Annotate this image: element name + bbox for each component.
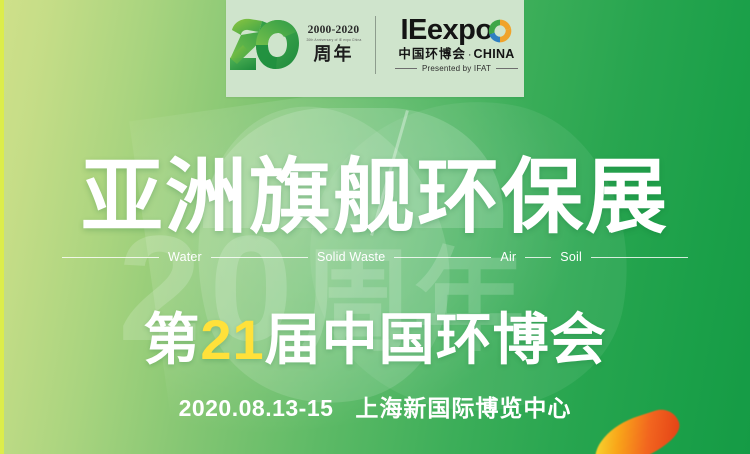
topic-tag-strip: Water Solid Waste Air Soil xyxy=(62,250,688,264)
ieexpo-ifat-row: Presented by IFAT xyxy=(389,64,525,73)
ieexpo-wordmark-row: IEexpo xyxy=(400,16,512,45)
tag-rule xyxy=(62,257,159,258)
ieexpo-wordmark: IEexpo xyxy=(400,16,492,45)
tag-rule xyxy=(525,257,551,258)
anniversary-text-block: 2000-2020 20th Anniversary of IE expo Ch… xyxy=(304,24,364,65)
subtitle-edition-number: 21 xyxy=(200,308,264,371)
ifat-rule-right xyxy=(496,68,518,69)
ieexpo-cn-name: 中国环博会 xyxy=(398,48,466,61)
event-date: 2020.08.13-15 xyxy=(179,395,334,421)
tag-solid-waste: Solid Waste xyxy=(317,250,385,264)
subtitle-edition: 第21届中国环博会 xyxy=(0,307,750,373)
ieexpo-presented-by: Presented by IFAT xyxy=(422,64,491,73)
tag-rule xyxy=(394,257,491,258)
subtitle-prefix: 第 xyxy=(143,308,200,371)
logo-panel: 2000-2020 20th Anniversary of IE expo Ch… xyxy=(226,0,524,97)
anniversary-cn: 周年 xyxy=(314,44,354,65)
ieexpo-ring-icon xyxy=(487,18,513,44)
anniversary-sub-en: 20th Anniversary of IE expo China xyxy=(306,37,361,43)
event-venue: 上海新国际博览中心 xyxy=(355,395,571,421)
subtitle-suffix: 届中国环博会 xyxy=(265,308,607,371)
tag-rule xyxy=(591,257,688,258)
event-details: 2020.08.13-15上海新国际博览中心 xyxy=(0,393,750,423)
logo-divider xyxy=(375,16,376,74)
tag-air: Air xyxy=(500,250,516,264)
tag-water: Water xyxy=(168,250,202,264)
ieexpo-country: CHINA xyxy=(474,48,515,61)
ieexpo-separator: · xyxy=(468,50,472,61)
tag-soil: Soil xyxy=(560,250,582,264)
logo-panel-inner: 2000-2020 20th Anniversary of IE expo Ch… xyxy=(226,16,525,74)
tag-rule xyxy=(211,257,308,258)
poster-canvas: 20周年 xyxy=(0,0,750,454)
ifat-rule-left xyxy=(395,68,417,69)
ieexpo-cn-row: 中国环博会 · CHINA xyxy=(398,48,514,61)
headline-title: 亚洲旗舰环保展 xyxy=(0,152,750,244)
anniversary-years: 2000-2020 xyxy=(308,24,360,37)
ieexpo-logo: IEexpo 中国环博会 · CHINA xyxy=(389,16,525,73)
anniversary-20-mark-icon xyxy=(226,16,300,74)
